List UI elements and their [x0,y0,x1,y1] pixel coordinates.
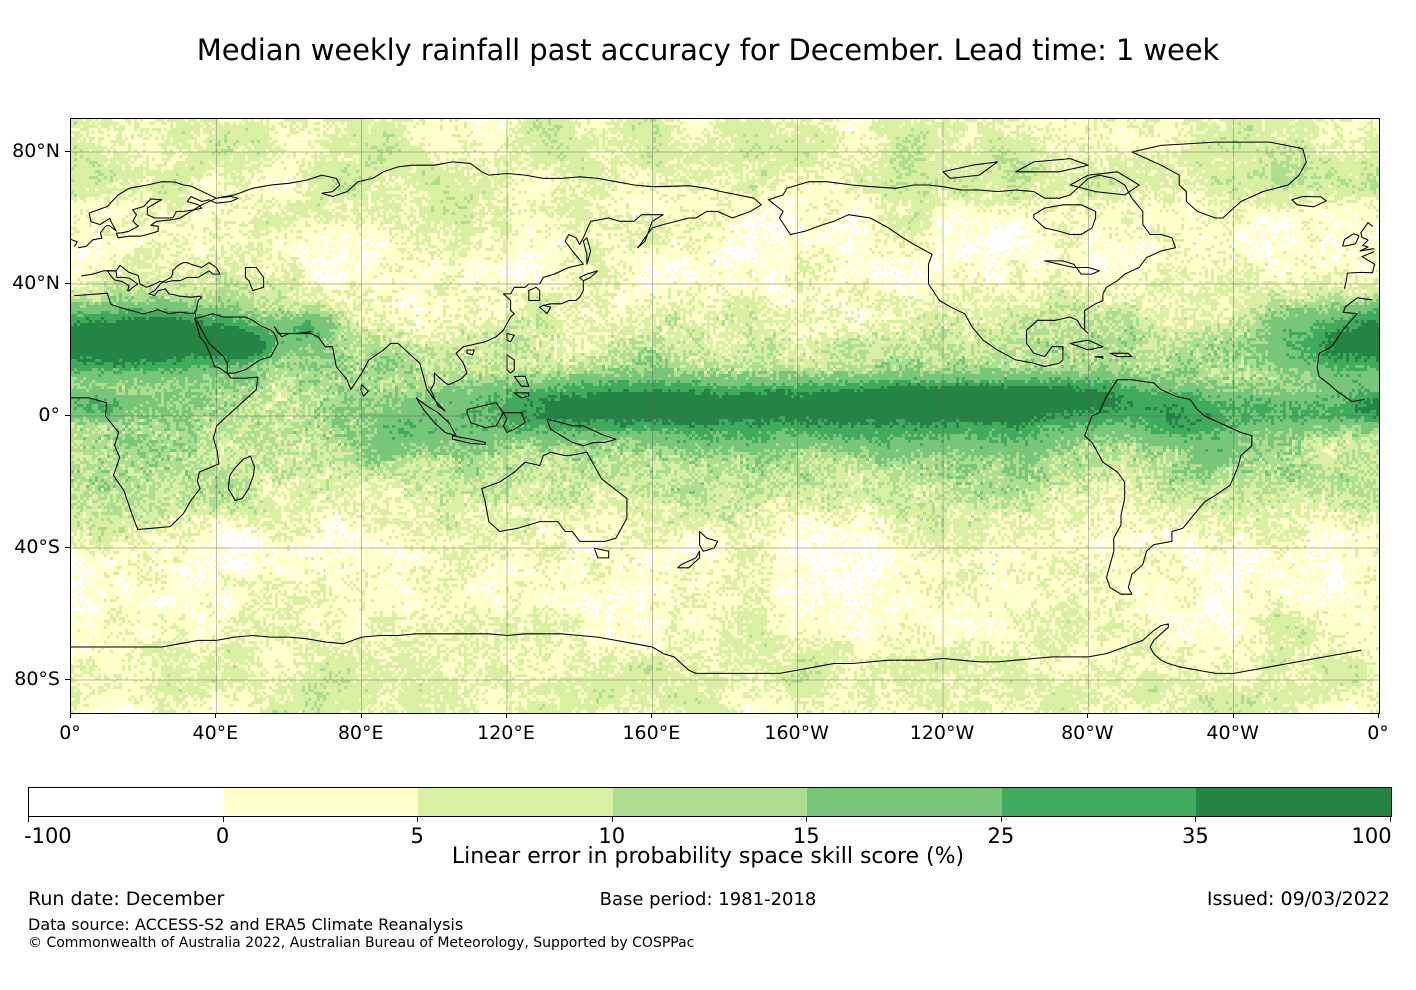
colorbar-band [224,788,419,816]
colorbar-band [1002,788,1197,816]
colorbar-band [29,788,224,816]
lon-tick-label: 160°E [622,722,680,744]
lon-tick-mark [651,713,652,718]
lat-tick-mark [65,151,70,152]
footer-copyright: © Commonwealth of Australia 2022, Austra… [28,935,694,951]
colorbar [28,787,1392,817]
lat-tick-label: 40°S [14,536,60,558]
colorbar-tick-mark [28,816,29,822]
lon-tick-label: 80°E [338,722,384,744]
lon-tick-mark [1233,713,1234,718]
colorbar-tick-mark [612,816,613,822]
colorbar-axis-label: Linear error in probability space skill … [0,844,1416,869]
colorbar-tick-mark [806,816,807,822]
lat-tick-label: 80°S [14,668,60,690]
footer-data-source: Data source: ACCESS-S2 and ERA5 Climate … [28,915,463,934]
lon-tick-label: 0° [59,722,81,744]
lat-tick-mark [65,283,70,284]
gridline-overlay [71,119,1379,713]
lon-tick-mark [70,713,71,718]
lon-tick-mark [215,713,216,718]
lat-tick-label: 0° [38,404,60,426]
lon-tick-mark [942,713,943,718]
lon-tick-mark [506,713,507,718]
lon-tick-label: 120°E [477,722,535,744]
footer: Run date: December Base period: 1981-201… [0,888,1416,958]
lon-tick-mark [361,713,362,718]
colorbar-tick-mark [1001,816,1002,822]
page-title: Median weekly rainfall past accuracy for… [0,33,1416,67]
lon-tick-mark [797,713,798,718]
footer-issued-date: Issued: 09/03/2022 [1207,888,1390,910]
lon-tick-mark [1087,713,1088,718]
colorbar-band [613,788,808,816]
lat-tick-label: 40°N [12,272,60,294]
lat-tick-mark [65,547,70,548]
colorbar-band [418,788,613,816]
lon-tick-label: 40°W [1206,722,1258,744]
colorbar-band [807,788,1002,816]
lon-tick-label: 0° [1367,722,1389,744]
lat-tick-label: 80°N [12,140,60,162]
colorbar-tick-mark [223,816,224,822]
lon-tick-mark [1378,713,1379,718]
lon-tick-label: 120°W [910,722,975,744]
lat-tick-mark [65,679,70,680]
lon-tick-label: 40°E [192,722,238,744]
footer-base-period: Base period: 1981-2018 [0,889,1416,910]
lon-tick-label: 160°W [764,722,829,744]
colorbar-band [1196,788,1391,816]
colorbar-tick-mark [1390,816,1391,822]
lon-tick-label: 80°W [1061,722,1113,744]
lat-tick-mark [65,415,70,416]
colorbar-tick-mark [417,816,418,822]
colorbar-tick-mark [1195,816,1196,822]
map-plot-area [70,118,1380,714]
